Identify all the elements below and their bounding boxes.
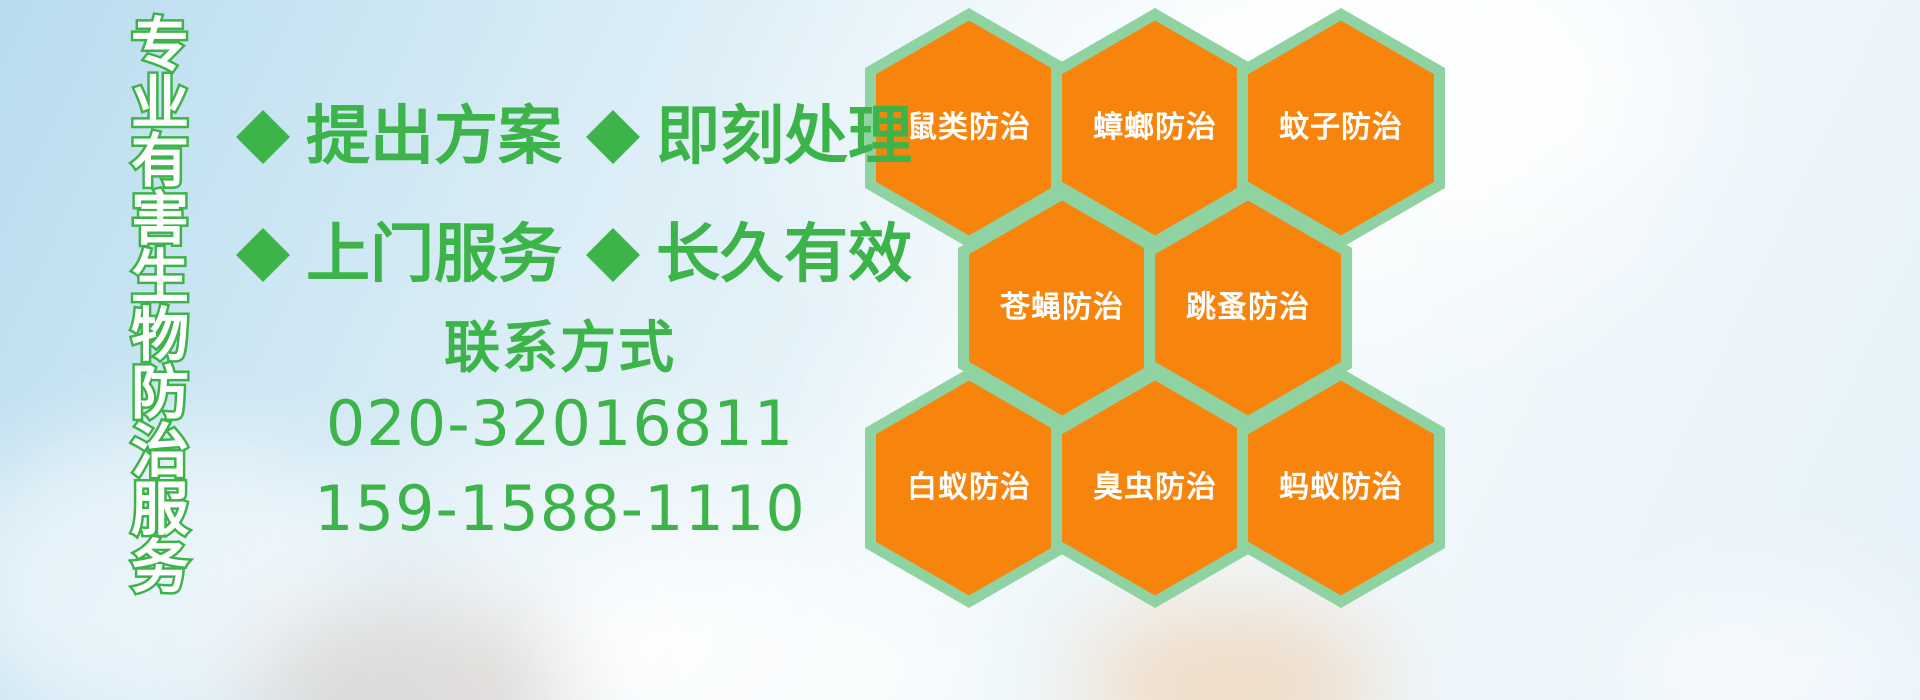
vertical-headline-char: 物 [131, 306, 189, 364]
service-label: 鼠类防治 [907, 113, 1031, 143]
contact-block: 联系方式 020-32016811 159-1588-1110 [300, 318, 820, 552]
feature-item-propose-plan: 提出方案 [236, 105, 562, 169]
diamond-bullet-icon [236, 201, 290, 255]
service-label: 蟑螂防治 [1093, 113, 1217, 143]
vertical-headline-char: 务 [131, 538, 189, 596]
contact-label: 联系方式 [300, 318, 820, 381]
feature-item-long-lasting: 长久有效 [586, 223, 912, 287]
feature-row: 提出方案 即刻处理 [236, 78, 912, 196]
hex-inner: 蚂蚁防治 [1248, 381, 1434, 596]
service-label: 蚂蚁防治 [1279, 473, 1403, 503]
vertical-headline-char: 专 [131, 16, 189, 74]
feature-label: 即刻处理 [656, 105, 912, 169]
feature-row: 上门服务 长久有效 [236, 196, 912, 314]
diamond-bullet-icon [586, 83, 640, 137]
hex-inner: 蚊子防治 [1248, 21, 1434, 236]
service-honeycomb: 鼠类防治 蟑螂防治 蚊子防治 苍蝇防治 跳蚤防治 白蚁防治 [855, 0, 1455, 700]
background-bokeh-blob [1600, 560, 1920, 700]
feature-label: 提出方案 [306, 105, 562, 169]
vertical-headline: 专 业 有 害 生 物 防 治 服 务 [112, 16, 208, 581]
service-label: 臭虫防治 [1093, 473, 1217, 503]
feature-label: 上门服务 [306, 223, 562, 287]
hex-inner: 臭虫防治 [1062, 381, 1248, 596]
vertical-headline-char: 有 [131, 132, 189, 190]
feature-item-onsite-service: 上门服务 [236, 223, 562, 287]
feature-item-immediate-treatment: 即刻处理 [586, 105, 912, 169]
service-label: 跳蚤防治 [1186, 293, 1310, 323]
hex-inner: 苍蝇防治 [969, 201, 1155, 416]
diamond-bullet-icon [586, 201, 640, 255]
contact-phone-mobile[interactable]: 159-1588-1110 [300, 466, 820, 552]
hex-inner: 跳蚤防治 [1155, 201, 1341, 416]
vertical-headline-char: 生 [131, 248, 189, 306]
service-label: 白蚁防治 [907, 473, 1031, 503]
vertical-headline-char: 害 [131, 190, 189, 248]
feature-label: 长久有效 [656, 223, 912, 287]
vertical-headline-char: 治 [131, 422, 189, 480]
contact-phone-landline[interactable]: 020-32016811 [300, 381, 820, 467]
diamond-bullet-icon [236, 83, 290, 137]
vertical-headline-char: 业 [131, 74, 189, 132]
service-label: 苍蝇防治 [1000, 293, 1124, 323]
vertical-headline-char: 防 [131, 364, 189, 422]
hex-inner: 蟑螂防治 [1062, 21, 1248, 236]
hex-inner: 白蚁防治 [876, 381, 1062, 596]
pest-control-banner: 专 业 有 害 生 物 防 治 服 务 提出方案 即刻处理 上门服务 [0, 0, 1920, 700]
service-label: 蚊子防治 [1279, 113, 1403, 143]
background-bokeh-blob [250, 600, 580, 700]
feature-list: 提出方案 即刻处理 上门服务 长久有效 [236, 78, 912, 314]
vertical-headline-char: 服 [131, 480, 189, 538]
